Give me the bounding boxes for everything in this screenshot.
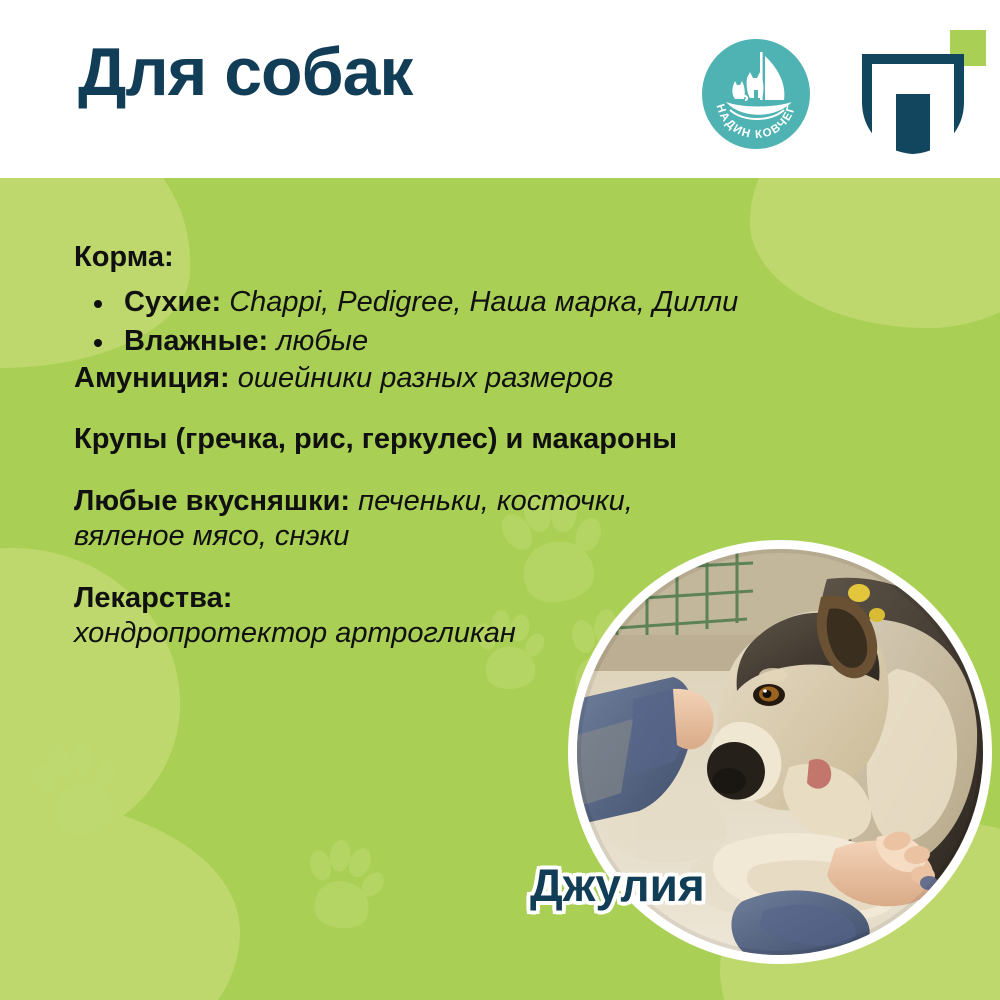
list-item: Влажные: любые: [90, 322, 954, 361]
medicine-label: Лекарства:: [74, 582, 232, 614]
page-title: Для собак: [78, 38, 412, 106]
food-wet-label: Влажные:: [124, 325, 268, 357]
medicine-value: хондропротектор артрогликан: [74, 617, 516, 649]
food-wet-value: любые: [276, 325, 368, 357]
poster-body: Корма: Сухие: Chappi, Pedigree, Наша мар…: [0, 178, 1000, 1000]
ammunition-label: Амуниция:: [74, 362, 230, 394]
poster-header: Для собак: [0, 0, 1000, 178]
foods-section: Корма:: [74, 240, 954, 275]
treats-label: Любые вкусняшки:: [74, 485, 350, 517]
ammunition-section: Амуниция: ошейники разных размеров: [74, 361, 954, 396]
food-dry-label: Сухие:: [124, 286, 221, 318]
list-item: Сухие: Chappi, Pedigree, Наша марка, Дил…: [90, 283, 954, 322]
nadin-ark-logo: НАДИН КОВЧЕГ: [700, 38, 812, 150]
medicine-section: Лекарства: хондропротектор артрогликан: [74, 581, 544, 652]
treats-section: Любые вкусняшки: печеньки, косточки, вял…: [74, 484, 634, 555]
poster: Для собак: [0, 0, 1000, 1000]
decorative-blob-bottom-left: [0, 798, 240, 1000]
paw-print-icon: [16, 726, 137, 857]
pet-name-label: Джулия: [530, 858, 705, 912]
ammunition-value: ошейники разных размеров: [238, 362, 614, 394]
shield-t-logo: [850, 26, 990, 166]
foods-heading: Корма:: [74, 240, 954, 275]
foods-items: Сухие: Chappi, Pedigree, Наша марка, Дил…: [74, 283, 954, 361]
paw-print-icon: [295, 834, 389, 942]
grains-section: Крупы (гречка, рис, геркулес) и макароны: [74, 422, 954, 457]
food-dry-value: Chappi, Pedigree, Наша марка, Дилли: [229, 286, 738, 318]
